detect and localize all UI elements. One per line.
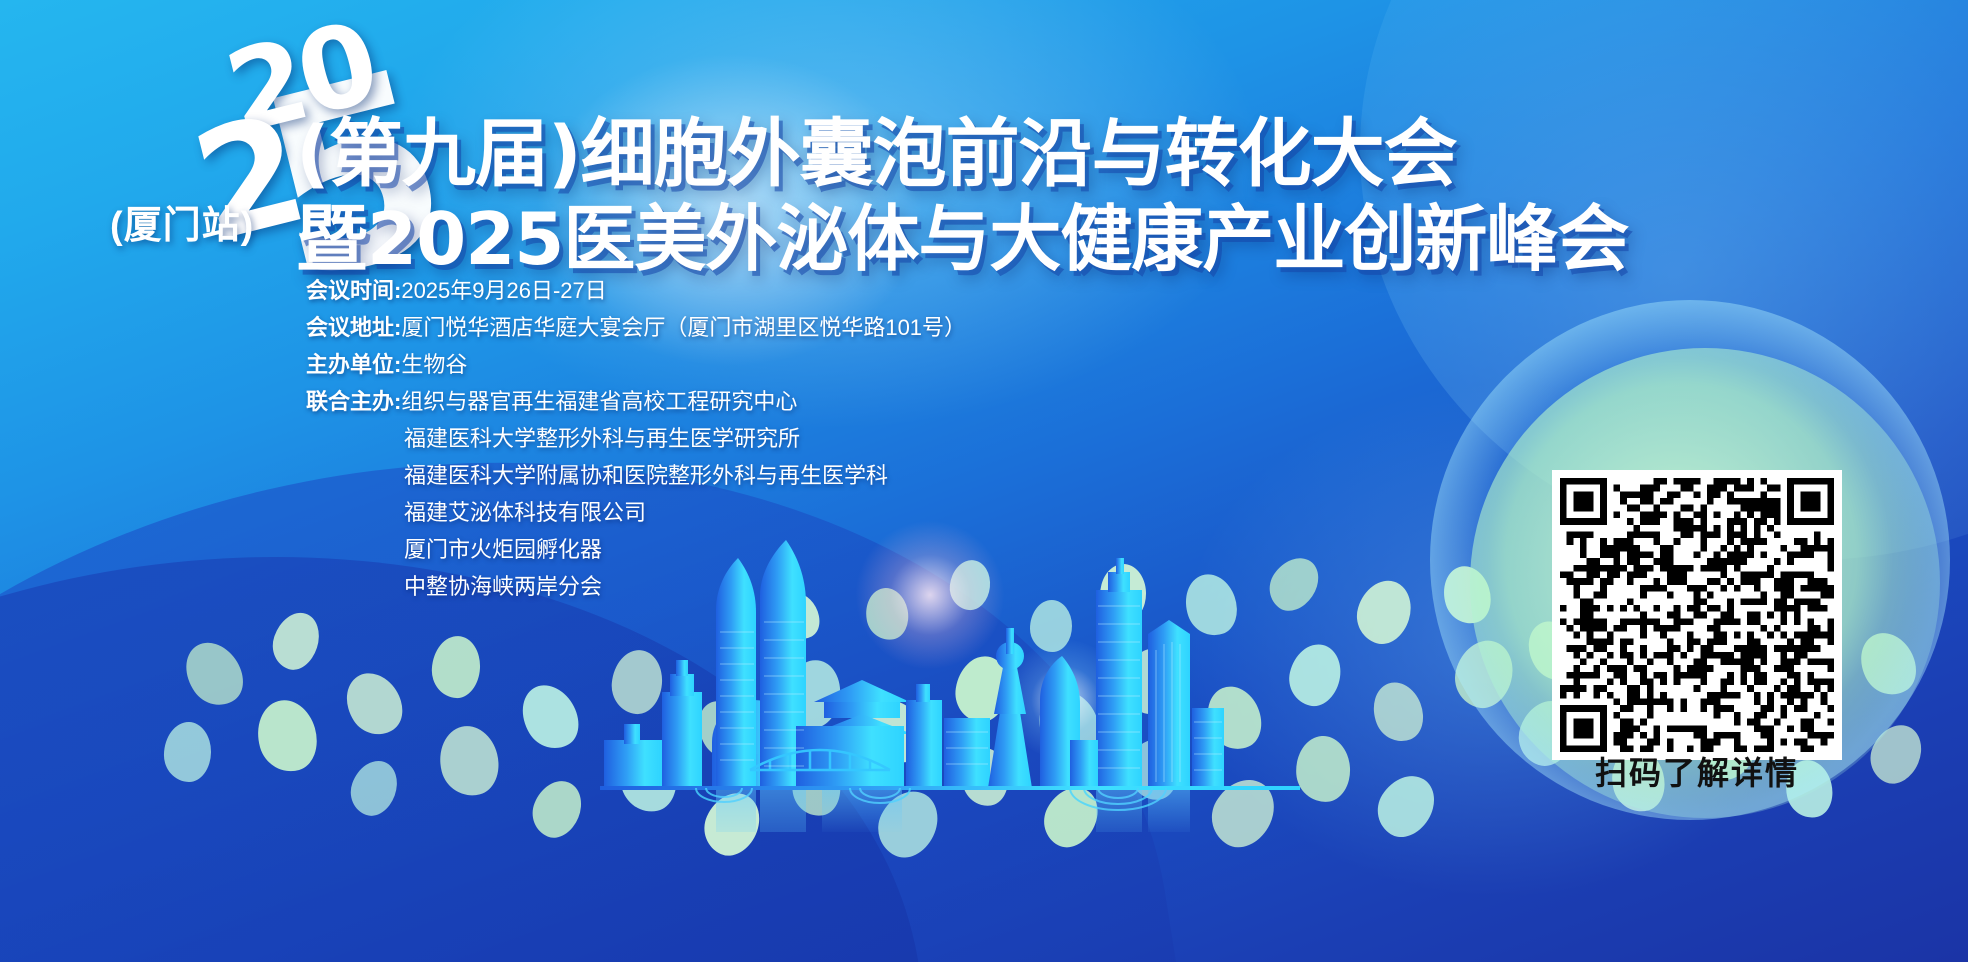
vesicle-blob bbox=[688, 693, 757, 768]
qr-code[interactable] bbox=[1552, 470, 1842, 760]
detail-row-host: 主办单位: 生物谷 bbox=[306, 346, 1366, 383]
vesicle-blob bbox=[1030, 600, 1072, 652]
vesicle-blob bbox=[951, 652, 1013, 725]
vesicle-blob bbox=[174, 632, 254, 716]
vesicle-blob bbox=[1284, 639, 1347, 711]
conference-banner: 5 20 2 (厦门站) (第九届)细胞外囊泡前沿与转化大会 暨2025医美外泌… bbox=[0, 0, 1968, 962]
vesicle-blob bbox=[525, 773, 589, 844]
host-label: 主办单位: bbox=[306, 346, 401, 383]
vesicle-blob bbox=[335, 663, 413, 745]
detail-row-address: 会议地址: 厦门悦华酒店华庭大宴会厅（厦门市湖里区悦华路101号） bbox=[306, 309, 1366, 346]
cohost-label: 联合主办: bbox=[306, 383, 401, 420]
vesicle-blob bbox=[958, 745, 1012, 809]
cohost-line: 福建艾泌体科技有限公司 bbox=[404, 494, 1366, 531]
conference-details: 会议时间: 2025年9月26日-27日 会议地址: 厦门悦华酒店华庭大宴会厅（… bbox=[306, 272, 1366, 605]
cohost-line: 中整协海峡两岸分会 bbox=[404, 568, 1366, 605]
vesicle-blob bbox=[787, 752, 845, 819]
vesicle-blob bbox=[266, 607, 326, 676]
page-title: (第九届)细胞外囊泡前沿与转化大会 暨2025医美外泌体与大健康产业创新峰会 bbox=[296, 112, 1476, 280]
vesicle-blob bbox=[1200, 768, 1285, 858]
vesicle-blob bbox=[1198, 678, 1271, 757]
detail-row-cohost: 联合主办: 组织与器官再生福建省高校工程研究中心 bbox=[306, 383, 1366, 420]
vesicle-blob bbox=[860, 692, 934, 772]
vesicle-blob bbox=[782, 657, 844, 731]
cohost-line: 福建医科大学附属协和医院整形外科与再生医学科 bbox=[404, 457, 1366, 494]
vesicle-blob bbox=[1028, 681, 1111, 771]
skyline-glow-cyan bbox=[1005, 640, 1125, 760]
cohost-line: 厦门市火炬园孵化器 bbox=[404, 531, 1366, 568]
logo-station-label: (厦门站) bbox=[110, 194, 254, 249]
vesicle-blob bbox=[1127, 738, 1181, 803]
vesicle-blob bbox=[432, 720, 505, 802]
host-value: 生物谷 bbox=[401, 346, 467, 383]
detail-row-time: 会议时间: 2025年9月26日-27日 bbox=[306, 272, 1366, 309]
vesicle-blob bbox=[430, 635, 481, 699]
vesicle-blob bbox=[249, 693, 325, 778]
vesicle-blob bbox=[1118, 643, 1184, 718]
title-line-1: (第九届)细胞外囊泡前沿与转化大会 bbox=[296, 112, 1476, 196]
time-label: 会议时间: bbox=[306, 272, 401, 309]
vesicle-blob bbox=[1367, 765, 1445, 847]
title-line-2: 暨2025医美外泌体与大健康产业创新峰会 bbox=[296, 198, 1476, 280]
time-value: 2025年9月26日-27日 bbox=[401, 272, 606, 309]
vesicle-blob bbox=[613, 737, 682, 817]
vesicle-blob bbox=[511, 675, 590, 758]
cohost-list: 福建医科大学整形外科与再生医学研究所福建医科大学附属协和医院整形外科与再生医学科… bbox=[306, 420, 1366, 605]
vesicle-blob bbox=[1034, 778, 1107, 856]
address-value: 厦门悦华酒店华庭大宴会厅（厦门市湖里区悦华路101号） bbox=[401, 309, 966, 346]
qr-caption: 扫码了解详情 bbox=[1552, 748, 1842, 794]
vesicle-blob bbox=[695, 784, 769, 864]
vesicle-blob bbox=[163, 722, 211, 783]
vesicle-blob bbox=[344, 754, 404, 822]
vesicle-blob bbox=[1294, 734, 1352, 804]
cohost-line: 福建医科大学整形外科与再生医学研究所 bbox=[404, 420, 1366, 457]
vesicle-blob bbox=[868, 781, 948, 867]
address-label: 会议地址: bbox=[306, 309, 401, 346]
cohost-first-value: 组织与器官再生福建省高校工程研究中心 bbox=[401, 383, 797, 420]
vesicle-blob bbox=[609, 648, 664, 716]
vesicle-blob bbox=[1365, 675, 1431, 748]
